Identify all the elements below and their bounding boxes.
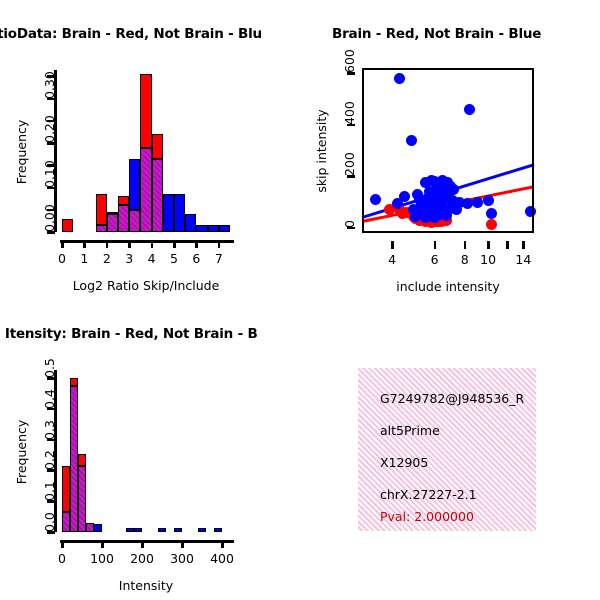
histogram-bar-brain <box>107 212 118 214</box>
x-tick <box>61 240 64 248</box>
x-tick-label: 8 <box>461 252 469 267</box>
histogram-bar-brain <box>118 196 129 205</box>
y-tick-label: 0 <box>342 220 357 228</box>
histogram-bar-not-brain <box>219 225 230 232</box>
histogram-bar-not-brain <box>174 528 182 532</box>
intensity-histogram-title: ne Itensity: Brain - Red, Not Brain - B <box>0 326 258 342</box>
x-tick-label: 6 <box>192 251 200 266</box>
info-line-pval: Pval: 2.000000 <box>380 509 474 524</box>
x-tick-label: 300 <box>170 551 194 566</box>
histogram-bar-not-brain <box>198 528 206 532</box>
x-tick <box>181 540 184 548</box>
histogram-bar-not-brain <box>196 225 207 232</box>
y-minor-tick <box>47 120 55 123</box>
x-tick-label: 7 <box>215 251 223 266</box>
x-tick <box>506 241 509 249</box>
y-minor-tick <box>47 164 55 167</box>
x-tick <box>487 241 490 249</box>
y-tick-label: 600 <box>342 49 357 73</box>
x-tick-label: 1 <box>80 251 88 266</box>
histogram-bar-overlap <box>107 214 118 232</box>
histogram-bar-overlap <box>62 512 70 532</box>
x-tick <box>522 241 525 249</box>
histogram-bar-not-brain <box>94 524 102 532</box>
x-tick <box>151 240 154 248</box>
x-tick-label: 100 <box>90 551 114 566</box>
histogram-bar-brain <box>140 74 151 147</box>
x-tick-label: 200 <box>130 551 154 566</box>
x-tick <box>106 240 109 248</box>
histogram-bar-overlap <box>86 523 94 532</box>
x-tick-label: 2 <box>103 251 111 266</box>
x-tick-label: 10 <box>480 252 496 267</box>
histogram-bar-overlap <box>70 386 78 532</box>
y-tick-label: 0.4 <box>42 389 57 409</box>
x-tick-label: 400 <box>210 551 234 566</box>
x-axis-title: Intensity <box>119 578 173 593</box>
histogram-bar-brain <box>78 454 86 466</box>
x-tick <box>195 240 198 248</box>
x-tick-label: 4 <box>388 252 396 267</box>
y-axis-title: Frequency <box>14 120 29 185</box>
histogram-bar-not-brain <box>163 194 174 232</box>
histogram-bar-not-brain <box>158 528 166 532</box>
panel-ratio-histogram: RatioData: Brain - Red, Not Brain - Blu … <box>0 0 300 300</box>
info-panel-box: G7249782@J948536_R alt5Prime X12905 chrX… <box>358 368 536 531</box>
histogram-bar-overlap <box>78 466 86 532</box>
histogram-bar-not-brain <box>129 159 140 210</box>
x-axis-line <box>60 240 234 243</box>
x-axis-line <box>60 540 234 543</box>
histogram-bar-not-brain <box>208 225 219 232</box>
y-axis-title: Frequency <box>14 420 29 485</box>
panel-intensity-scatter: Brain - Red, Not Brain - Blue 0200400600… <box>300 0 600 300</box>
y-tick-label: 0.5 <box>42 358 57 378</box>
histogram-bar-overlap <box>96 225 107 232</box>
x-tick <box>173 240 176 248</box>
y-axis-title: skip intensity <box>314 109 329 192</box>
histogram-bar-overlap <box>129 210 140 232</box>
info-line-probe: G7249782@J948536_R <box>380 391 524 406</box>
y-minor-tick <box>47 209 55 212</box>
histogram-bar-overlap <box>140 148 151 232</box>
x-tick <box>391 241 394 249</box>
x-axis-title: Log2 Ratio Skip/Include <box>73 278 220 293</box>
x-tick-label: 14 <box>515 252 531 267</box>
histogram-bar-overlap <box>152 159 163 232</box>
x-tick-label: 5 <box>170 251 178 266</box>
y-tick-label: 0.3 <box>42 420 57 440</box>
x-tick <box>464 241 467 249</box>
histogram-bar-not-brain <box>134 528 142 532</box>
panel-intensity-histogram: ne Itensity: Brain - Red, Not Brain - B … <box>0 300 300 600</box>
info-line-locus: chrX.27227-2.1 <box>380 487 477 502</box>
x-tick-label: 3 <box>125 251 133 266</box>
histogram-bar-brain <box>96 194 107 225</box>
histogram-bar-brain <box>62 219 73 232</box>
scatter-title: Brain - Red, Not Brain - Blue <box>332 26 541 42</box>
x-axis-title: include intensity <box>396 279 499 294</box>
panel-info: G7249782@J948536_R alt5Prime X12905 chrX… <box>300 300 600 600</box>
y-minor-tick <box>47 75 55 78</box>
x-tick-label: 0 <box>58 551 66 566</box>
info-line-event-type: alt5Prime <box>380 423 440 438</box>
x-tick-label: 6 <box>431 252 439 267</box>
x-tick <box>221 540 224 548</box>
plot-frame <box>362 68 534 233</box>
histogram-bar-overlap <box>118 205 129 232</box>
y-tick-label: 0.1 <box>42 481 57 501</box>
histogram-bar-brain <box>152 134 163 158</box>
y-tick-label: 400 <box>342 101 357 125</box>
x-tick <box>101 540 104 548</box>
x-tick <box>83 240 86 248</box>
histogram-bar-not-brain <box>126 528 134 532</box>
x-tick <box>218 240 221 248</box>
histogram-bar-not-brain <box>214 528 222 532</box>
x-tick-label: 0 <box>58 251 66 266</box>
figure-canvas: RatioData: Brain - Red, Not Brain - Blu … <box>0 0 600 600</box>
ratio-histogram-title: RatioData: Brain - Red, Not Brain - Blu <box>0 26 262 42</box>
info-line-gene-id: X12905 <box>380 455 428 470</box>
x-tick <box>128 240 131 248</box>
histogram-bar-not-brain <box>185 214 196 232</box>
x-tick <box>61 540 64 548</box>
x-tick <box>141 540 144 548</box>
y-tick-label: 0.2 <box>42 451 57 471</box>
x-tick-label: 4 <box>148 251 156 266</box>
histogram-bar-brain <box>62 466 70 512</box>
y-tick-label: 200 <box>342 152 357 176</box>
histogram-bar-not-brain <box>174 194 185 232</box>
x-tick <box>434 241 437 249</box>
histogram-bar-brain <box>70 378 78 386</box>
y-tick-label: 0.0 <box>42 512 57 532</box>
